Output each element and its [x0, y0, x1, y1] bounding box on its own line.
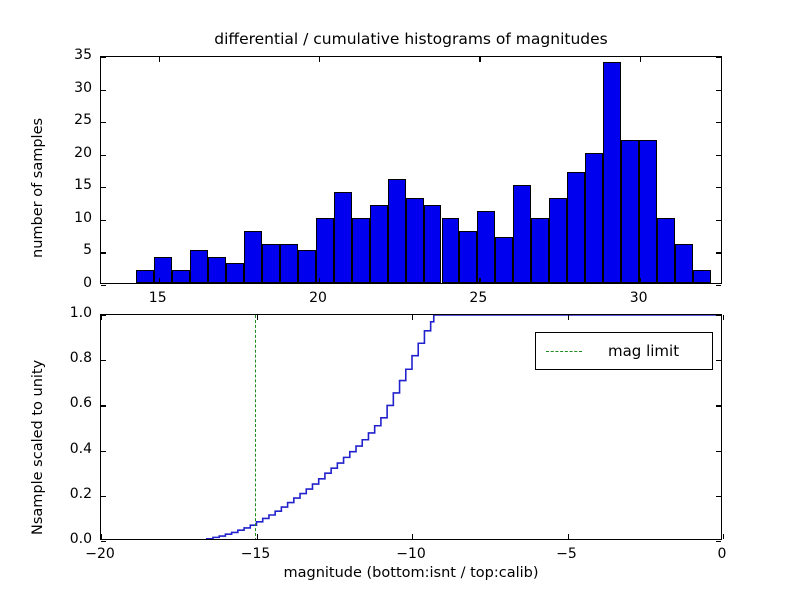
histogram-bar [244, 231, 262, 283]
histogram-bar [603, 62, 621, 283]
histogram-bar [388, 179, 406, 283]
bottom-panel-ytick-label: 0.6 [38, 395, 92, 411]
mag-limit-legend-line-icon [546, 351, 582, 352]
bottom-panel-ytick-label: 0.0 [38, 531, 92, 547]
histogram-bar [208, 257, 226, 283]
histogram-bar [424, 205, 442, 283]
bottom-panel-xtick [723, 534, 724, 539]
bottom-panel-ytick [101, 360, 106, 361]
bottom-panel-xtick-label: −10 [381, 546, 441, 562]
histogram-bar [459, 231, 477, 283]
top-panel-ytick-label: 10 [38, 210, 92, 226]
histogram-bar [406, 198, 424, 283]
top-panel-ytick-label: 20 [38, 145, 92, 161]
histogram-bar [298, 250, 316, 283]
top-panel-xtick [319, 57, 320, 62]
top-panel-ytick [101, 57, 106, 58]
histogram-bar [352, 218, 370, 283]
top-panel-xtick [159, 57, 160, 62]
bottom-panel-xtick [412, 315, 413, 320]
histogram-bar [477, 211, 495, 283]
bottom-panel-ytick [716, 360, 721, 361]
histogram-bar [531, 218, 549, 283]
histogram-bar [136, 270, 154, 283]
bottom-panel-xtick-label: −20 [70, 546, 130, 562]
bottom-panel-ytick [716, 405, 721, 406]
legend-label-mag-limit: mag limit [608, 342, 679, 360]
figure-canvas: differential / cumulative histograms of … [0, 0, 800, 600]
top-panel-ytick-label: 30 [38, 80, 92, 96]
top-panel-xtick-label: 30 [609, 290, 669, 306]
top-panel-ytick [101, 155, 106, 156]
top-panel-ytick [716, 220, 721, 221]
top-panel-ytick [101, 187, 106, 188]
top-panel-ytick [716, 90, 721, 91]
top-panel-xtick [159, 278, 160, 283]
bottom-panel-ytick [101, 451, 106, 452]
top-panel-ytick-label: 25 [38, 112, 92, 128]
top-panel-xtick-label: 20 [288, 290, 348, 306]
histogram-bar [190, 250, 208, 283]
histogram-bar [226, 263, 244, 283]
bottom-panel-axes: mag limit [100, 314, 722, 540]
top-panel-ytick [716, 155, 721, 156]
bottom-panel-xtick-label: −15 [226, 546, 286, 562]
bottom-panel-ylabel: Nsample scaled to unity [30, 360, 46, 535]
histogram-bar [172, 270, 190, 283]
bottom-panel-xtick [257, 534, 258, 539]
bottom-panel-ytick [101, 315, 106, 316]
histogram-bar [316, 218, 334, 283]
top-panel-ytick [101, 122, 106, 123]
top-panel-axes [100, 56, 722, 284]
top-panel-ytick [101, 90, 106, 91]
bottom-panel-xtick [568, 534, 569, 539]
histogram-bar [442, 218, 460, 283]
top-panel-xtick [640, 57, 641, 62]
bottom-panel-xtick [723, 315, 724, 320]
histogram-bar [621, 140, 639, 283]
histogram-bar [657, 218, 675, 283]
bottom-panel-xtick [257, 315, 258, 320]
top-panel-ylabel: number of samples [30, 118, 46, 258]
bottom-panel-ytick-label: 0.2 [38, 486, 92, 502]
top-panel-ytick-label: 35 [38, 47, 92, 63]
histogram-bar [495, 237, 513, 283]
histogram-bar [370, 205, 388, 283]
histogram-bar [585, 153, 603, 283]
top-panel-xtick-label: 15 [128, 290, 188, 306]
top-panel-ytick [716, 122, 721, 123]
histogram-bar [549, 198, 567, 283]
top-panel-xtick [479, 278, 480, 283]
top-panel-ytick-label: 0 [38, 275, 92, 291]
histogram-bar [567, 172, 585, 283]
bottom-panel-ytick-label: 1.0 [38, 305, 92, 321]
bottom-panel-ytick [716, 496, 721, 497]
top-panel-ytick [101, 220, 106, 221]
histogram-bar [280, 244, 298, 283]
bottom-panel-xtick-label: −5 [537, 546, 597, 562]
top-panel-xtick [640, 278, 641, 283]
bottom-panel-xtick [568, 315, 569, 320]
figure-title: differential / cumulative histograms of … [100, 30, 722, 48]
bottom-panel-ytick [101, 541, 106, 542]
bottom-panel-ytick [716, 541, 721, 542]
top-panel-xtick [479, 57, 480, 62]
histogram-bars-layer [101, 57, 721, 283]
bottom-panel-xtick-label: 0 [692, 546, 752, 562]
bottom-panel-ytick-label: 0.8 [38, 350, 92, 366]
histogram-bar [334, 192, 352, 283]
bottom-panel-ytick [101, 405, 106, 406]
top-panel-xtick [319, 278, 320, 283]
histogram-bar [639, 140, 657, 283]
legend-box: mag limit [535, 332, 713, 370]
bottom-panel-ytick [716, 451, 721, 452]
histogram-bar [675, 244, 693, 283]
top-panel-ytick-label: 5 [38, 242, 92, 258]
histogram-bar [154, 257, 172, 283]
top-panel-ytick [716, 285, 721, 286]
bottom-panel-ytick-label: 0.4 [38, 441, 92, 457]
top-panel-ytick [101, 252, 106, 253]
top-panel-xtick-label: 25 [448, 290, 508, 306]
bottom-panel-ytick [101, 496, 106, 497]
figure-xlabel: magnitude (bottom:isnt / top:calib) [100, 565, 722, 581]
histogram-bar [262, 244, 280, 283]
mag-limit-vline [255, 315, 256, 539]
bottom-panel-xtick [412, 534, 413, 539]
bottom-panel-ytick [716, 315, 721, 316]
top-panel-ytick [716, 57, 721, 58]
top-panel-ytick [716, 187, 721, 188]
top-panel-ytick [716, 252, 721, 253]
histogram-bar [513, 185, 531, 283]
top-panel-ytick-label: 15 [38, 177, 92, 193]
bottom-panel-xtick [101, 534, 102, 539]
top-panel-ytick [101, 285, 106, 286]
histogram-bar [693, 270, 711, 283]
